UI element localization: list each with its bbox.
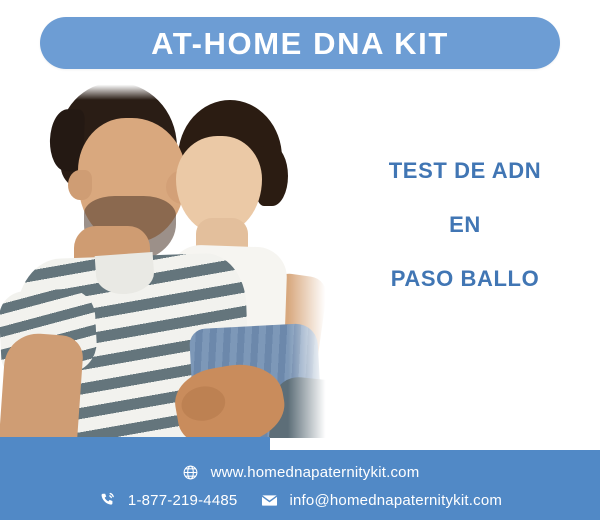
phone-icon	[98, 490, 118, 510]
header-banner: AT-HOME DNA KIT	[40, 17, 560, 69]
photo-edge-fade-top	[0, 78, 340, 100]
headline-line-2: EN	[330, 214, 600, 236]
footer-email-item[interactable]: info@homednapaternitykit.com	[259, 490, 502, 510]
footer-row-phone-email: 1-877-219-4485 info@homednapaternitykit.…	[0, 490, 600, 510]
photo-man-arm	[0, 331, 84, 438]
headline-line-3: PASO BALLO	[330, 268, 600, 290]
footer-website-item[interactable]: www.homednapaternitykit.com	[181, 462, 420, 482]
footer-website-label: www.homednapaternitykit.com	[211, 465, 420, 480]
headline-line-1: TEST DE ADN	[330, 160, 600, 182]
footer-row-website: www.homednapaternitykit.com	[0, 462, 600, 482]
poster-root: AT-HOME DNA KIT TEST DE ADN	[0, 0, 600, 520]
footer-contact-bar: www.homednapaternitykit.com 1-877-219-44…	[0, 450, 600, 520]
page-title: AT-HOME DNA KIT	[151, 28, 449, 59]
photo-man-ear	[68, 170, 92, 200]
globe-icon	[181, 462, 201, 482]
headline-block: TEST DE ADN EN PASO BALLO	[330, 160, 600, 290]
footer-phone-label: 1-877-219-4485	[128, 493, 238, 508]
footer-email-label: info@homednapaternitykit.com	[289, 493, 502, 508]
father-child-photo	[0, 78, 340, 438]
envelope-icon	[259, 490, 279, 510]
footer-phone-item[interactable]: 1-877-219-4485	[98, 490, 238, 510]
photo-canvas	[0, 78, 340, 438]
